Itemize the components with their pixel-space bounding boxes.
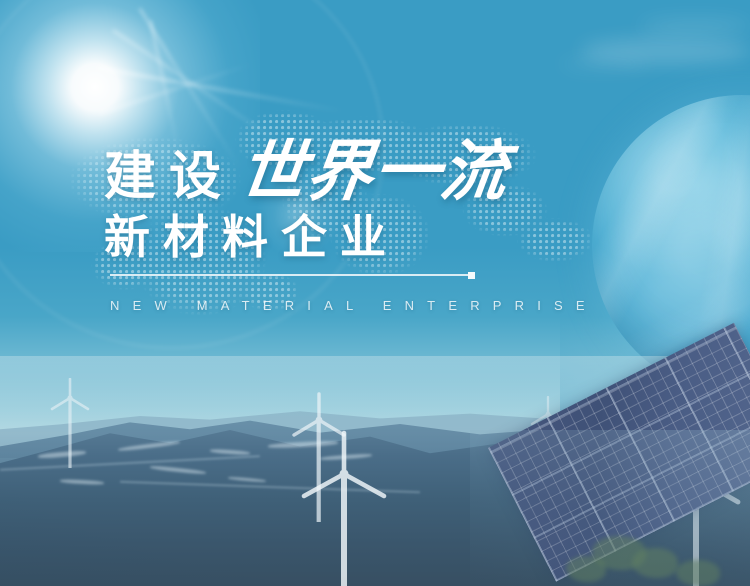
headline-emphasis: 世界一流 (236, 138, 512, 204)
hero-text-block: 建设 世界一流 新材料企业 NEW MATERIAL ENTERPRISE (0, 0, 750, 340)
foliage-cluster (676, 560, 720, 586)
foliage-cluster (566, 556, 606, 582)
wind-turbine-icon (48, 378, 92, 468)
wind-turbine-icon (300, 430, 390, 586)
divider-line (110, 274, 468, 276)
headline-divider (110, 272, 475, 279)
headline-prefix: 建设 (104, 151, 234, 203)
divider-end-marker (468, 272, 475, 279)
headline-line-1: 建设 世界一流 (104, 138, 508, 204)
headline-line-2: 新材料企业 (104, 214, 399, 260)
foliage-cluster (632, 548, 678, 578)
subtitle-english: NEW MATERIAL ENTERPRISE (110, 298, 598, 313)
hero-banner: 建设 世界一流 新材料企业 NEW MATERIAL ENTERPRISE (0, 0, 750, 586)
